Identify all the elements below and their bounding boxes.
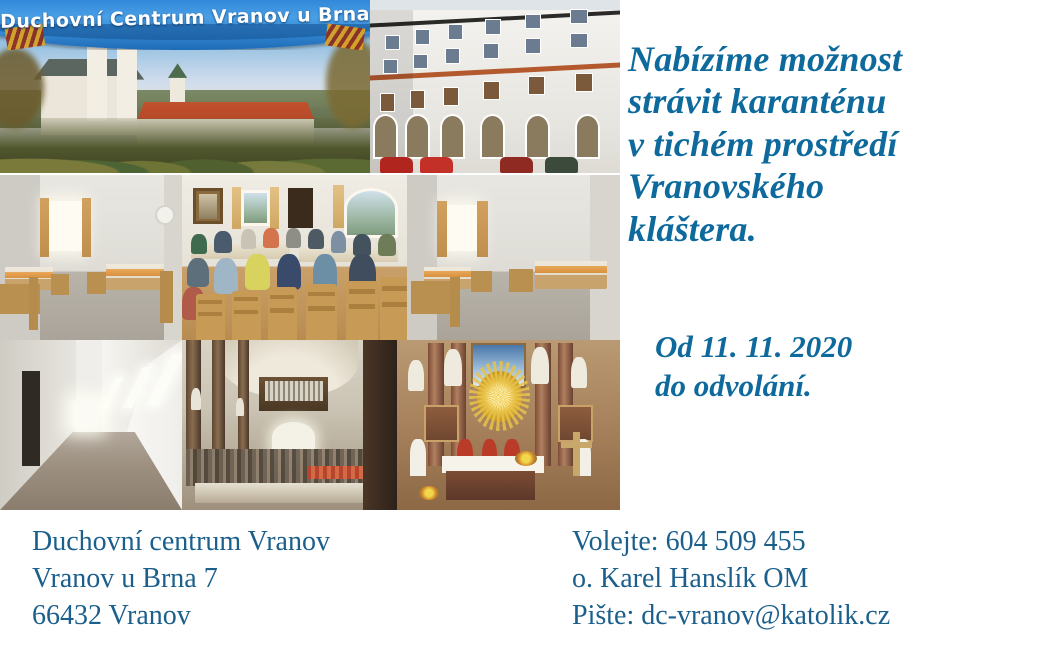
corridor-scene [0,340,182,510]
tree-line [0,118,370,173]
nightstand [509,269,532,292]
photo-monastery-facade [370,0,620,173]
monastery-tower [170,78,185,102]
address-line-2: Vranov u Brna 7 [32,561,502,598]
nightstand [87,272,105,293]
chair [306,284,338,340]
person [214,258,239,294]
window [575,73,593,92]
person [241,229,257,249]
chair [380,277,407,340]
headline-line-4: Vranovského [628,165,1028,207]
arched-window [575,114,600,159]
person [277,254,302,290]
church-interior-scene [182,340,397,510]
nightstand [51,274,69,295]
chair [268,287,297,340]
window [570,33,588,49]
person [191,234,207,254]
window [413,54,428,70]
wall-clock [155,205,175,226]
window [570,9,588,25]
arched-window [373,114,398,159]
headline-line-2: strávit karanténu [628,80,1028,122]
corridor-end-light [73,401,98,428]
window [385,35,400,51]
arched-window [440,114,465,159]
bed-blanket [106,269,164,276]
curtain-right [477,201,488,257]
dining-hall-scene [182,175,407,340]
headline-line-1: Nabízíme možnost [628,38,1028,80]
address-line-3: 66432 Vranov [32,598,502,635]
side-pillar [363,340,397,510]
statue-saint-left [444,349,462,386]
arched-window [480,114,505,159]
photo-bedroom-left [0,175,182,340]
window [483,43,499,59]
window [448,24,463,40]
wall-right [590,175,620,340]
wall-left [407,175,437,340]
window [525,38,541,54]
address-block: Duchovní centrum Vranov Vranov u Brna 7 … [32,524,502,635]
bed [106,264,164,290]
window [410,90,425,109]
date-block: Od 11. 11. 2020 do odvolání. [655,328,1035,406]
photo-bedroom-right [407,175,620,340]
picture-image [199,194,217,219]
parked-car [380,157,413,173]
person [308,229,324,249]
organ-loft [259,377,328,411]
curtain [270,187,279,230]
contact-person: o. Karel Hanslík OM [572,561,1032,598]
photo-altar-mass [397,340,620,510]
ribbon-tail-right [325,23,366,50]
person [214,231,232,252]
banner-ribbon: Duchovní Centrum Vranov u Brna [0,0,370,50]
monastery-facade-scene [370,0,620,173]
statue-angel-left [408,360,424,391]
altar-panel [424,405,460,442]
bed-blanket [535,266,607,273]
date-line-2: do odvolání. [655,367,1035,406]
processional-cross [573,432,580,476]
window [528,76,546,95]
bedroom-left-scene [0,175,182,340]
parked-car [500,157,533,173]
window [241,190,270,226]
nightstand [471,271,492,292]
altar-server-left [410,439,426,476]
arched-window [344,188,398,238]
person [286,228,302,248]
flower-bouquet [515,451,537,466]
flower-bouquet [419,486,439,500]
chair [160,271,173,324]
bedroom-right-scene [407,175,620,340]
altar-table [446,471,535,500]
chair [346,281,378,340]
religious-picture [193,188,222,224]
poster-root: Duchovní Centrum Vranov u Brna [0,0,1045,649]
altar-scene [397,340,620,510]
arched-window [405,114,430,159]
window [380,93,395,112]
church-tower-right [117,45,137,121]
photo-church-interior [182,340,397,510]
window [525,14,541,30]
golden-sunburst [477,371,522,422]
parked-car [545,157,578,173]
photo-church-exterior: Duchovní Centrum Vranov u Brna [0,0,370,173]
arched-window [525,114,550,159]
photo-corridor [0,340,182,510]
curtain [232,187,241,230]
red-vested-group [307,466,367,480]
chair [196,294,225,340]
contact-phone: Volejte: 604 509 455 [572,524,1032,561]
window [445,48,460,64]
headline-line-5: kláštera. [628,208,1028,250]
bed [535,261,607,289]
window [47,201,82,251]
chair [450,277,461,327]
photo-collage: Duchovní Centrum Vranov u Brna [0,0,620,510]
person [378,234,396,255]
window [485,19,501,35]
altar-rail [195,483,384,503]
date-line-1: Od 11. 11. 2020 [655,328,1035,367]
headline-line-3: v tichém prostředí [628,123,1028,165]
person [353,234,371,255]
address-line-1: Duchovní centrum Vranov [32,524,502,561]
contact-block: Volejte: 604 509 455 o. Karel Hanslík OM… [572,524,1032,635]
door [22,371,40,466]
statue [236,398,245,417]
doorway [288,188,313,228]
photo-dining-hall [182,175,407,340]
person [187,258,210,288]
contact-email: Pište: dc-vranov@katolik.cz [572,598,1032,635]
window [483,81,501,100]
person [331,231,347,252]
chair [29,277,38,330]
parked-car [420,157,453,173]
curtain-left [437,201,448,257]
statue-saint-right [531,347,549,384]
window [415,29,430,45]
curtain-left [40,198,49,257]
statue-angel-right [571,357,587,388]
curtain [333,185,344,228]
headline: Nabízíme možnost strávit karanténu v tic… [628,38,1028,250]
curtain-right [82,198,91,257]
church-tower-left [87,45,107,121]
bed-blanket [424,271,471,277]
window [445,205,477,251]
window [443,87,459,106]
person [245,254,270,290]
person [263,228,279,248]
chair [232,291,261,341]
window [383,59,398,75]
statue [191,388,202,410]
